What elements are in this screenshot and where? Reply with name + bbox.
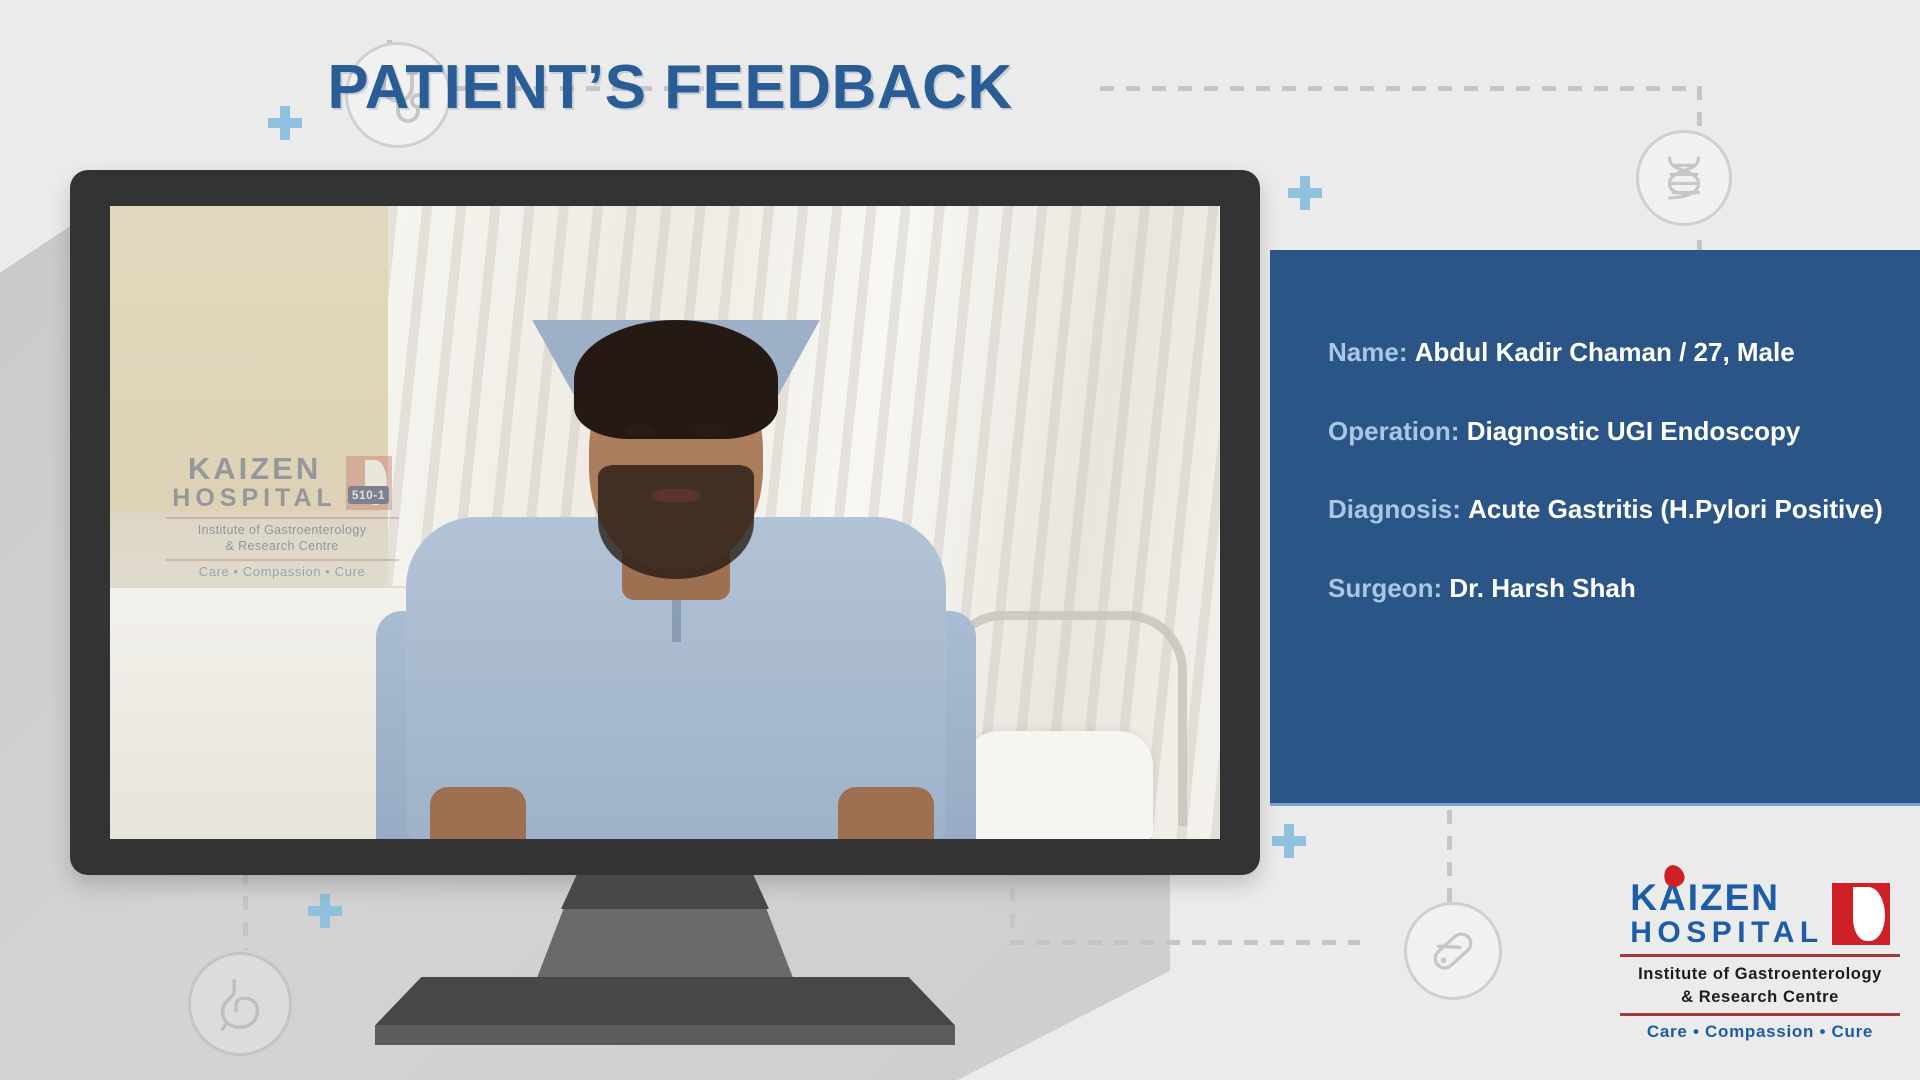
- watermark-stomach-mark: 510-1: [346, 456, 392, 510]
- logo-hospital-text: HOSPITAL: [1630, 916, 1823, 949]
- pill-capsule-icon: [1404, 902, 1502, 1000]
- dashed-line-stomach-up: [243, 870, 248, 950]
- info-label-operation: Operation:: [1328, 416, 1459, 446]
- info-label-diagnosis: Diagnosis:: [1328, 494, 1461, 524]
- watermark-subtitle-line1: Institute of Gastroenterology: [166, 522, 399, 539]
- patient-eye-right: [694, 424, 722, 437]
- patient-right-hand: [838, 787, 934, 839]
- watermark-subtitle-line2: & Research Centre: [166, 538, 399, 555]
- info-value-operation: Diagnostic UGI Endoscopy: [1467, 416, 1801, 446]
- dashed-line-bottom: [1010, 940, 1360, 945]
- plus-mark-3: [1272, 824, 1306, 858]
- patient-eye-left: [625, 424, 653, 437]
- kaizen-hospital-logo: KAIZEN HOSPITAL Institute of Gastroenter…: [1620, 880, 1900, 1042]
- info-label-surgeon: Surgeon:: [1328, 573, 1442, 603]
- dashed-line-pill-up: [1447, 810, 1452, 906]
- plus-mark-4: [308, 894, 342, 928]
- logo-stomach-mark: [1832, 883, 1890, 945]
- info-value-diagnosis: Acute Gastritis (H.Pylori Positive): [1468, 494, 1883, 524]
- info-row-diagnosis: Diagnosis: Acute Gastritis (H.Pylori Pos…: [1328, 493, 1920, 526]
- patient-eyebrow-left: [621, 411, 657, 418]
- logo-divider-bottom: [1620, 1013, 1900, 1016]
- patient-figure: [376, 320, 975, 839]
- info-value-surgeon: Dr. Harsh Shah: [1449, 573, 1635, 603]
- info-value-name: Abdul Kadir Chaman / 27, Male: [1415, 337, 1795, 367]
- dna-helix-icon: [1636, 130, 1732, 226]
- patient-info-panel: Name: Abdul Kadir Chaman / 27, Male Oper…: [1270, 250, 1920, 806]
- watermark-kaizen-text: KAIZEN: [172, 453, 337, 484]
- patient-eyebrow-right: [691, 411, 727, 418]
- stomach-icon: [188, 952, 292, 1056]
- info-label-name: Name:: [1328, 337, 1407, 367]
- monitor: KAIZEN HOSPITAL 510-1 Institute of Gastr…: [70, 170, 1260, 875]
- watermark-hospital-text: HOSPITAL: [172, 484, 337, 513]
- patient-left-hand: [430, 787, 526, 839]
- room-number-badge: 510-1: [348, 486, 389, 504]
- monitor-stand-base-lip: [375, 1025, 955, 1045]
- watermark-divider-bottom: [166, 559, 399, 561]
- video-player[interactable]: KAIZEN HOSPITAL 510-1 Institute of Gastr…: [110, 206, 1220, 839]
- video-watermark-logo: KAIZEN HOSPITAL 510-1 Institute of Gastr…: [166, 453, 399, 580]
- slide-canvas: PATIENT’S FEEDBACK: [0, 0, 1920, 1080]
- scene-pillow: [965, 731, 1154, 839]
- info-row-operation: Operation: Diagnostic UGI Endoscopy: [1328, 415, 1920, 448]
- video-frame: KAIZEN HOSPITAL 510-1 Institute of Gastr…: [110, 206, 1220, 839]
- logo-tagline: Care • Compassion • Cure: [1620, 1022, 1900, 1042]
- watermark-divider-top: [166, 517, 399, 519]
- logo-subtitle-line2: & Research Centre: [1620, 986, 1900, 1009]
- logo-kaizen-text: KAIZEN: [1630, 880, 1823, 916]
- logo-subtitle-line1: Institute of Gastroenterology: [1620, 963, 1900, 986]
- watermark-tagline: Care • Compassion • Cure: [166, 564, 399, 579]
- patient-beard: [598, 465, 754, 579]
- info-row-surgeon: Surgeon: Dr. Harsh Shah: [1328, 572, 1920, 605]
- info-row-name: Name: Abdul Kadir Chaman / 27, Male: [1328, 336, 1920, 369]
- plus-mark-2: [1288, 176, 1322, 210]
- page-title: PATIENT’S FEEDBACK: [0, 52, 1340, 123]
- logo-divider-top: [1620, 954, 1900, 957]
- patient-hair: [574, 320, 778, 439]
- patient-mouth: [652, 489, 700, 502]
